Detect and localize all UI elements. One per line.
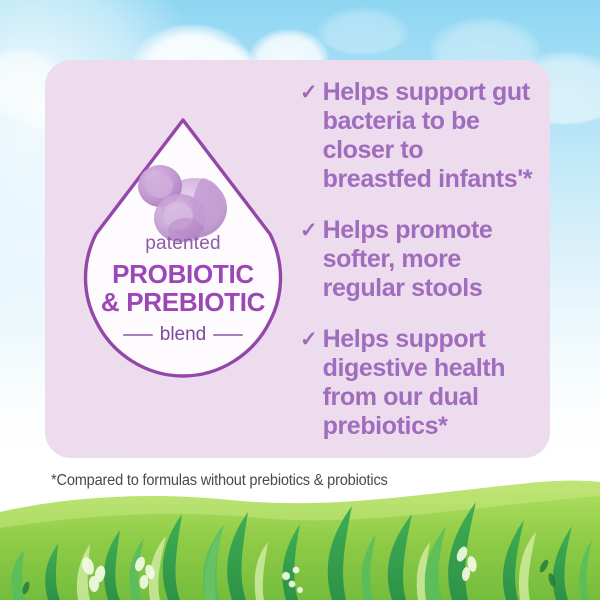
list-item: ✓ Helps support digestive health from ou…	[300, 325, 538, 441]
probiotic-prebiotic-badge: patented PROBIOTIC & PREBIOTIC blend	[70, 112, 296, 402]
check-icon: ✓	[300, 216, 318, 245]
cloud-icon	[318, 8, 408, 54]
product-benefits-infographic: patented PROBIOTIC & PREBIOTIC blend ✓ H…	[0, 0, 600, 600]
benefits-list: ✓ Helps support gut bacteria to be close…	[300, 78, 538, 441]
check-icon: ✓	[300, 325, 318, 354]
droplet-shape-icon	[70, 112, 296, 402]
benefit-text: Helps promote softer, more regular stool…	[323, 216, 538, 303]
check-icon: ✓	[300, 78, 318, 107]
list-item: ✓ Helps support gut bacteria to be close…	[300, 78, 538, 194]
benefit-text: Helps support gut bacteria to be closer …	[323, 78, 538, 194]
benefit-text: Helps support digestive health from our …	[323, 325, 538, 441]
footnote-disclaimer: *Compared to formulas without prebiotics…	[51, 472, 388, 490]
list-item: ✓ Helps promote softer, more regular sto…	[300, 216, 538, 303]
